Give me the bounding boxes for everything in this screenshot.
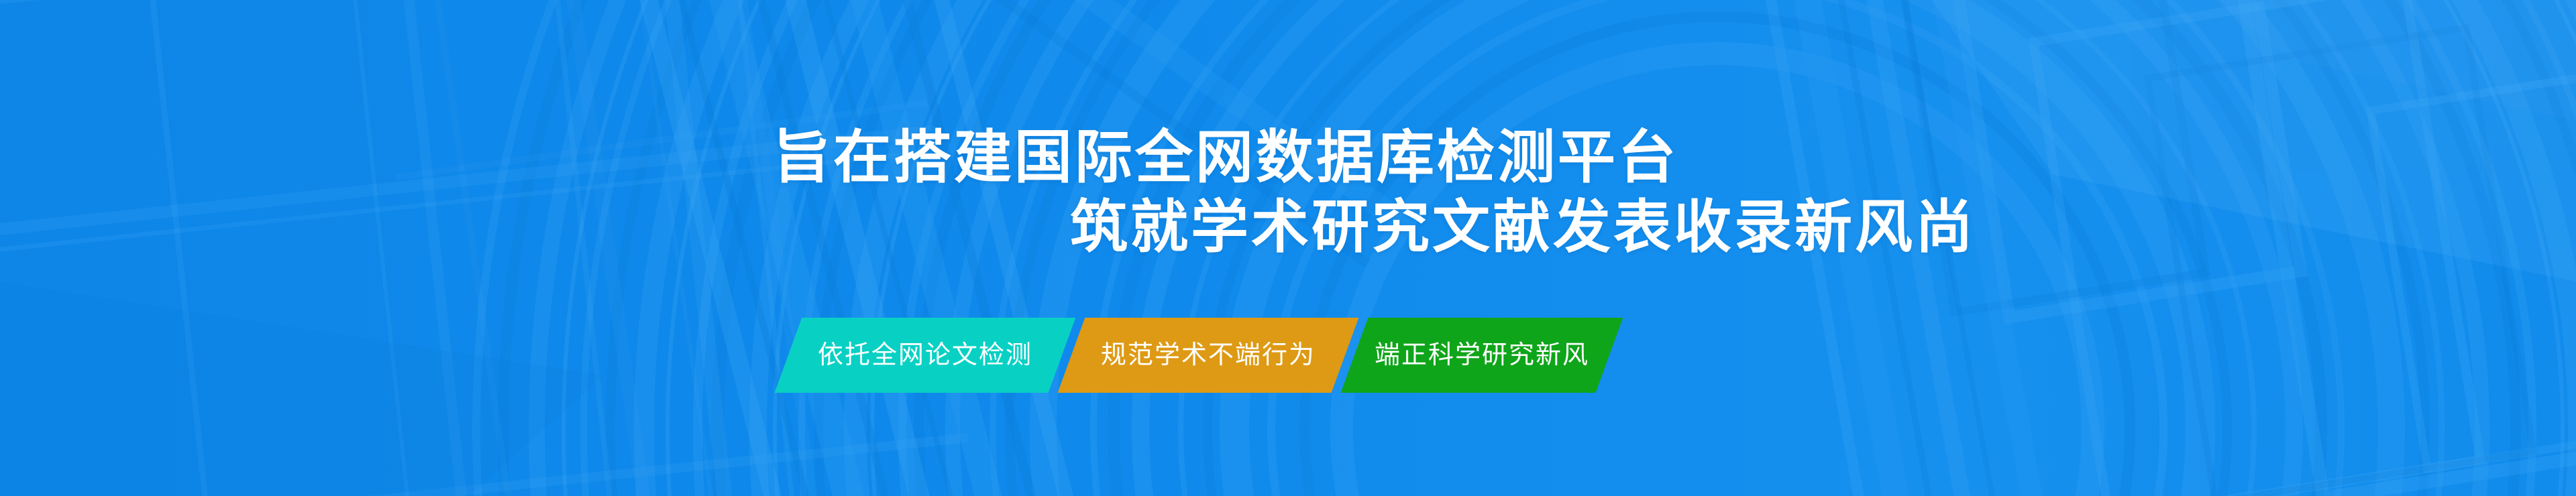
feature-tag-detection[interactable]: 依托全网论文检测 <box>775 318 1076 393</box>
background-decoration <box>0 0 2576 496</box>
feature-tag-misconduct[interactable]: 规范学术不端行为 <box>1058 318 1359 393</box>
feature-tag-integrity[interactable]: 端正科学研究新风 <box>1341 318 1623 393</box>
feature-tag-band: 依托全网论文检测 规范学术不端行为 端正科学研究新风 <box>751 318 1825 393</box>
feature-tag-integrity-label: 端正科学研究新风 <box>1375 343 1589 368</box>
promo-banner: 旨在搭建国际全网数据库检测平台 筑就学术研究文献发表收录新风尚 依托全网论文检测… <box>0 0 2576 496</box>
feature-tag-misconduct-label: 规范学术不端行为 <box>1101 343 1316 368</box>
feature-tag-detection-label: 依托全网论文检测 <box>818 343 1032 368</box>
